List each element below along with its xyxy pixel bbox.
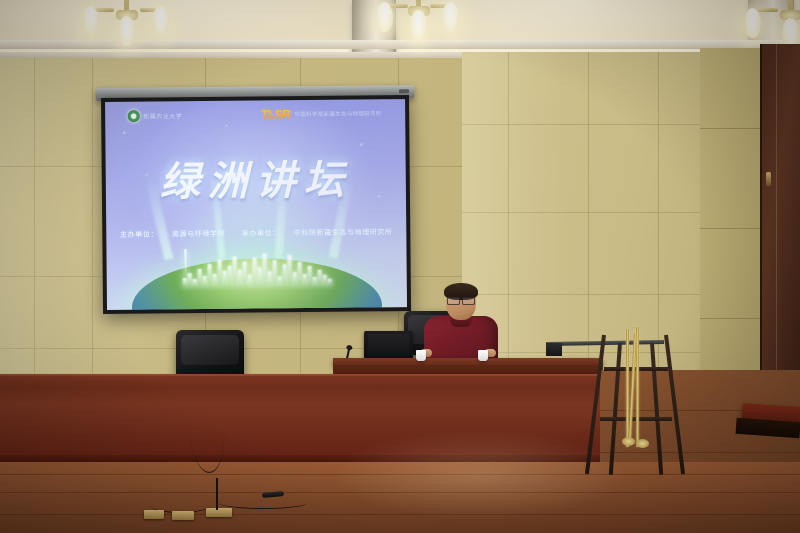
projected-slide: 新疆农业大学 TLSR 中国科学院新疆生态与地理研究所 绿洲讲坛 主办单位：资源…: [105, 99, 407, 310]
side-door[interactable]: [760, 44, 800, 384]
floor-microphone-stand: [216, 478, 218, 510]
door-handle-icon[interactable]: [766, 172, 771, 186]
brass-floor-plate-1: [144, 510, 164, 519]
screen-case-endcap: [399, 89, 409, 93]
university-logo-text: 新疆农业大学: [143, 111, 182, 120]
slide-subtitle-line: 主办单位：资源与环境学院 承办单位：中科院新疆生态与地理研究所: [106, 227, 406, 240]
tlsr-logo-mark: TLSR: [261, 107, 290, 121]
lecture-hall-photo: 新疆农业大学 TLSR 中国科学院新疆生态与地理研究所 绿洲讲坛 主办单位：资源…: [0, 0, 800, 533]
slide-tower-spire: [184, 249, 186, 279]
slide-host-label: 承办单位：: [242, 230, 280, 237]
paper-cup-left[interactable]: [416, 350, 426, 361]
slide-main-title: 绿洲讲坛: [105, 147, 406, 208]
wall-right-panels: [462, 52, 732, 382]
laptop[interactable]: [364, 331, 413, 360]
glasses-icon: [447, 297, 475, 303]
side-table-box: [546, 343, 562, 356]
instrument-rack: [598, 325, 674, 475]
slide-header: 新疆农业大学 TLSR 中国科学院新疆生态与地理研究所: [105, 104, 405, 127]
brass-floor-plate-2: [172, 511, 194, 520]
chandelier-2: [742, 0, 800, 44]
slide-city-skyline: [164, 252, 348, 288]
mic-cable-right: [218, 496, 308, 509]
chandelier-1: [78, 0, 176, 44]
office-chair-left: [176, 330, 244, 377]
wall-far-right: [700, 48, 760, 378]
institute-logo: TLSR 中国科学院新疆生态与地理研究所: [261, 106, 381, 121]
projection-screen: 新疆农业大学 TLSR 中国科学院新疆生态与地理研究所 绿洲讲坛 主办单位：资源…: [101, 95, 411, 314]
brass-floor-plate-3: [206, 508, 232, 517]
slide-organizer-label: 主办单位：: [120, 231, 158, 238]
floor-light-reflection: [330, 430, 630, 520]
university-logo: 新疆农业大学: [127, 109, 182, 123]
chandelier-3: [370, 0, 468, 40]
slide-host-value: 中科院新疆生态与地理研究所: [294, 229, 393, 237]
institute-logo-text: 中国科学院新疆生态与地理研究所: [294, 109, 381, 118]
paper-cup-right[interactable]: [478, 350, 488, 361]
slide-organizer-value: 资源与环境学院: [172, 231, 225, 239]
university-seal-icon: [127, 110, 140, 123]
